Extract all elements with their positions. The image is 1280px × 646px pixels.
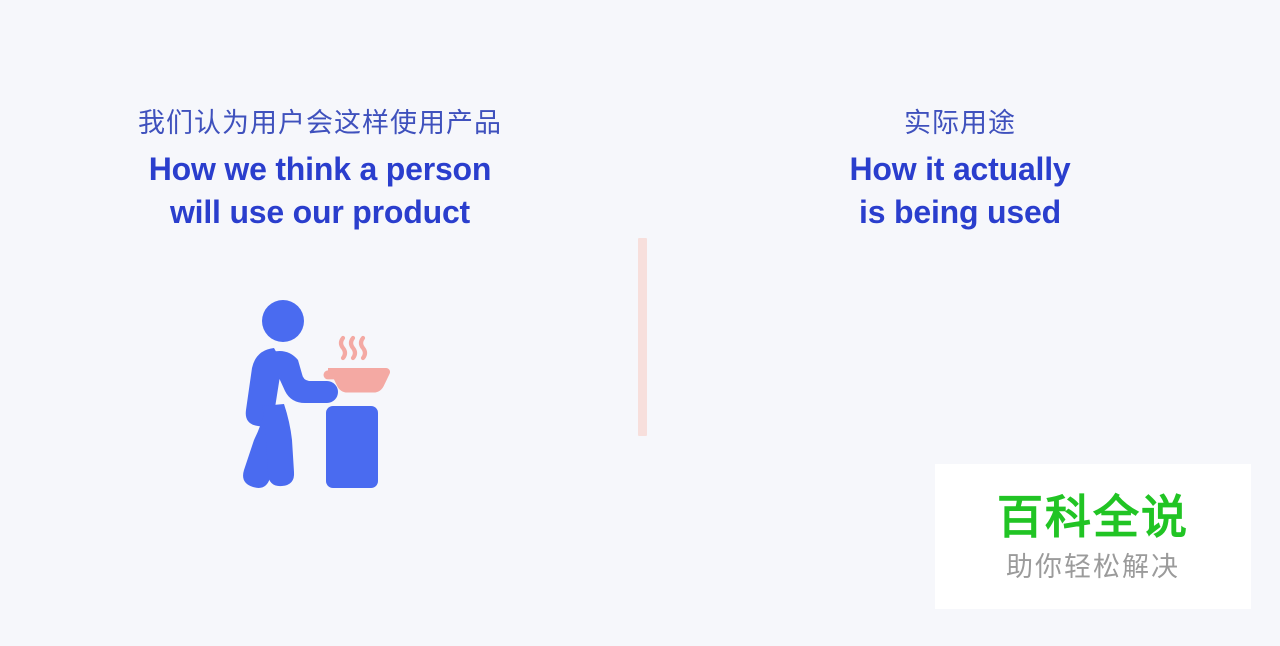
vertical-divider bbox=[638, 238, 647, 436]
slide-canvas: 我们认为用户会这样使用产品 How we think a person will… bbox=[0, 0, 1280, 646]
watermark-logo-box: 百科全说 助你轻松解决 bbox=[935, 464, 1251, 609]
watermark-subtitle: 助你轻松解决 bbox=[1006, 550, 1180, 584]
person-cooking-at-stove-illustration bbox=[236, 296, 396, 496]
person-head-shape bbox=[262, 300, 304, 342]
panel-left-heading-english-line2: will use our product bbox=[0, 191, 640, 234]
panel-left: 我们认为用户会这样使用产品 How we think a person will… bbox=[0, 0, 640, 646]
stove-counter-shape bbox=[326, 406, 378, 488]
panel-right-heading-english-line2: is being used bbox=[640, 191, 1280, 234]
panel-left-heading-chinese: 我们认为用户会这样使用产品 bbox=[0, 104, 640, 142]
panel-left-heading-english-line1: How we think a person bbox=[0, 148, 640, 191]
panel-right-heading-chinese: 实际用途 bbox=[640, 104, 1280, 142]
panel-left-heading-group: 我们认为用户会这样使用产品 How we think a person will… bbox=[0, 104, 640, 234]
panel-right-heading-english-line1: How it actually bbox=[640, 148, 1280, 191]
panel-left-heading-english: How we think a person will use our produ… bbox=[0, 148, 640, 234]
watermark-title: 百科全说 bbox=[997, 490, 1189, 544]
panel-right-heading-english: How it actually is being used bbox=[640, 148, 1280, 234]
steam-lines-icon bbox=[341, 338, 365, 358]
panel-right-heading-group: 实际用途 How it actually is being used bbox=[640, 104, 1280, 234]
